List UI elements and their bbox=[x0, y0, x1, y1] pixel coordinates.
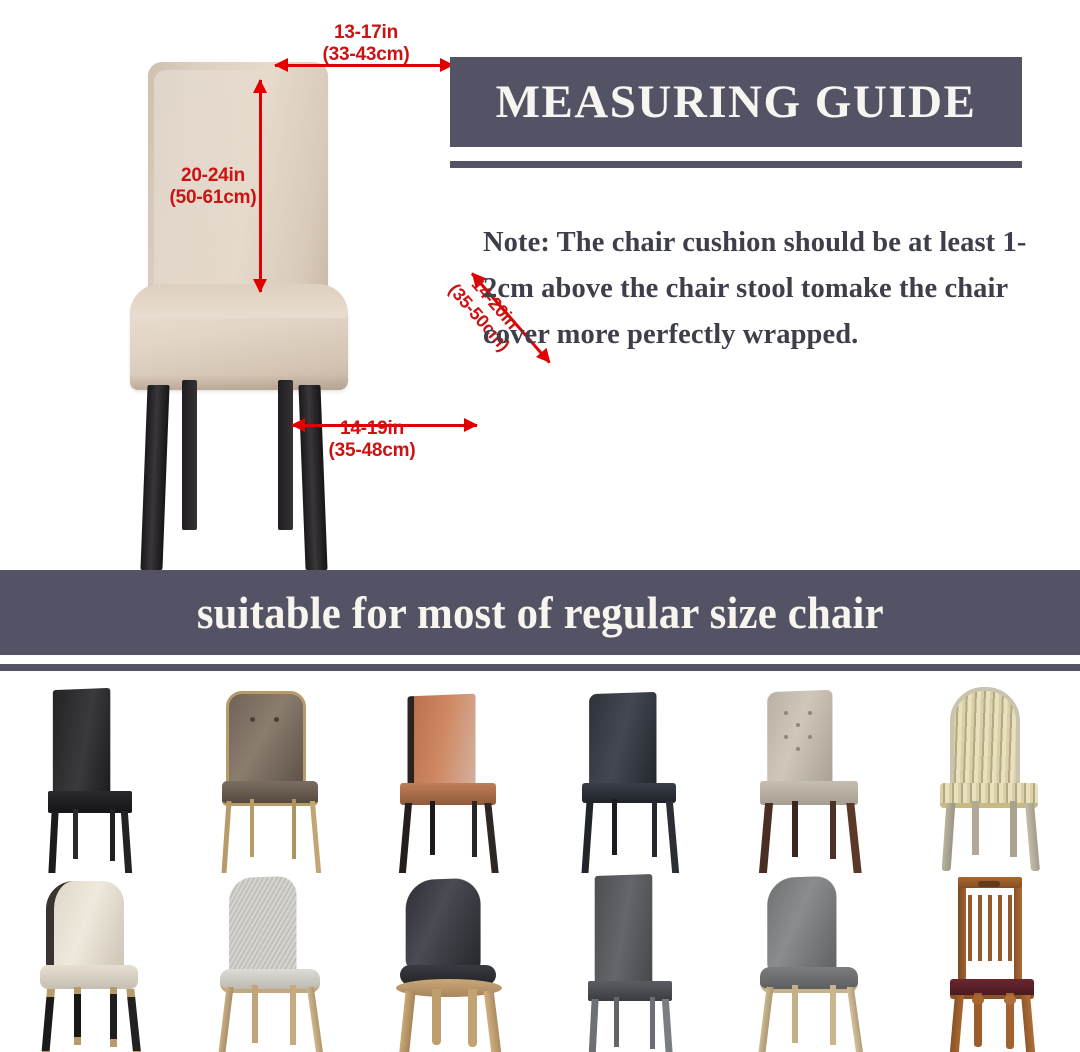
chair-cell bbox=[540, 676, 720, 864]
chair-cell bbox=[180, 676, 360, 864]
suitable-banner-underline bbox=[0, 664, 1080, 671]
gray-high-back-chair bbox=[560, 873, 700, 1043]
chair-leg-front-left bbox=[140, 385, 169, 570]
back-height-label: 20-24in (50-61cm) bbox=[158, 165, 268, 209]
chair-cell bbox=[900, 864, 1080, 1052]
suitable-banner-title: suitable for most of regular size chair bbox=[197, 586, 884, 639]
navy-leather-chair bbox=[560, 685, 700, 855]
chair-cell bbox=[720, 676, 900, 864]
chair-diagram: 13-17in (33-43cm) 20-24in (50-61cm) 14-1… bbox=[120, 20, 440, 565]
measuring-note-text: Note: The chair cushion should be at lea… bbox=[483, 220, 1043, 358]
chair-cell bbox=[900, 676, 1080, 864]
beige-tufted-wood-leg-chair bbox=[740, 685, 880, 855]
chair-cell bbox=[720, 864, 900, 1052]
chair-gallery-grid bbox=[0, 676, 1080, 1052]
chair-leg-front-right bbox=[298, 385, 327, 570]
cream-leather-gold-accent-chair bbox=[20, 873, 160, 1043]
chair-leg-back-left bbox=[182, 380, 197, 530]
chair-cell bbox=[360, 676, 540, 864]
measuring-guide-title: MEASURING GUIDE bbox=[496, 79, 977, 126]
suitable-banner: suitable for most of regular size chair bbox=[0, 570, 1080, 655]
back-width-label: 13-17in (33-43cm) bbox=[266, 22, 466, 66]
gray-velvet-tan-leg-chair bbox=[740, 873, 880, 1043]
wooden-slat-back-burgundy-seat-chair bbox=[920, 873, 1060, 1043]
terracotta-leather-chair bbox=[380, 685, 520, 855]
measuring-guide-infographic: 13-17in (33-43cm) 20-24in (50-61cm) 14-1… bbox=[0, 0, 1080, 1052]
ornate-striped-french-chair bbox=[920, 685, 1060, 855]
measuring-guide-underline bbox=[450, 161, 1022, 168]
charcoal-shell-oak-leg-chair bbox=[380, 873, 520, 1043]
seat-width-label: 14-19in (35-48cm) bbox=[272, 418, 472, 462]
light-gray-textured-chair bbox=[200, 873, 340, 1043]
top-section: 13-17in (33-43cm) 20-24in (50-61cm) 14-1… bbox=[0, 0, 1080, 568]
taupe-tufted-gold-frame-chair bbox=[200, 685, 340, 855]
measuring-guide-banner: MEASURING GUIDE bbox=[450, 57, 1022, 147]
chair-cell bbox=[0, 864, 180, 1052]
chair-seat-cushion bbox=[130, 300, 348, 390]
chair-cell bbox=[180, 864, 360, 1052]
chair-cell bbox=[360, 864, 540, 1052]
chair-cell bbox=[0, 676, 180, 864]
chair-cell bbox=[540, 864, 720, 1052]
black-high-back-chair bbox=[20, 685, 160, 855]
